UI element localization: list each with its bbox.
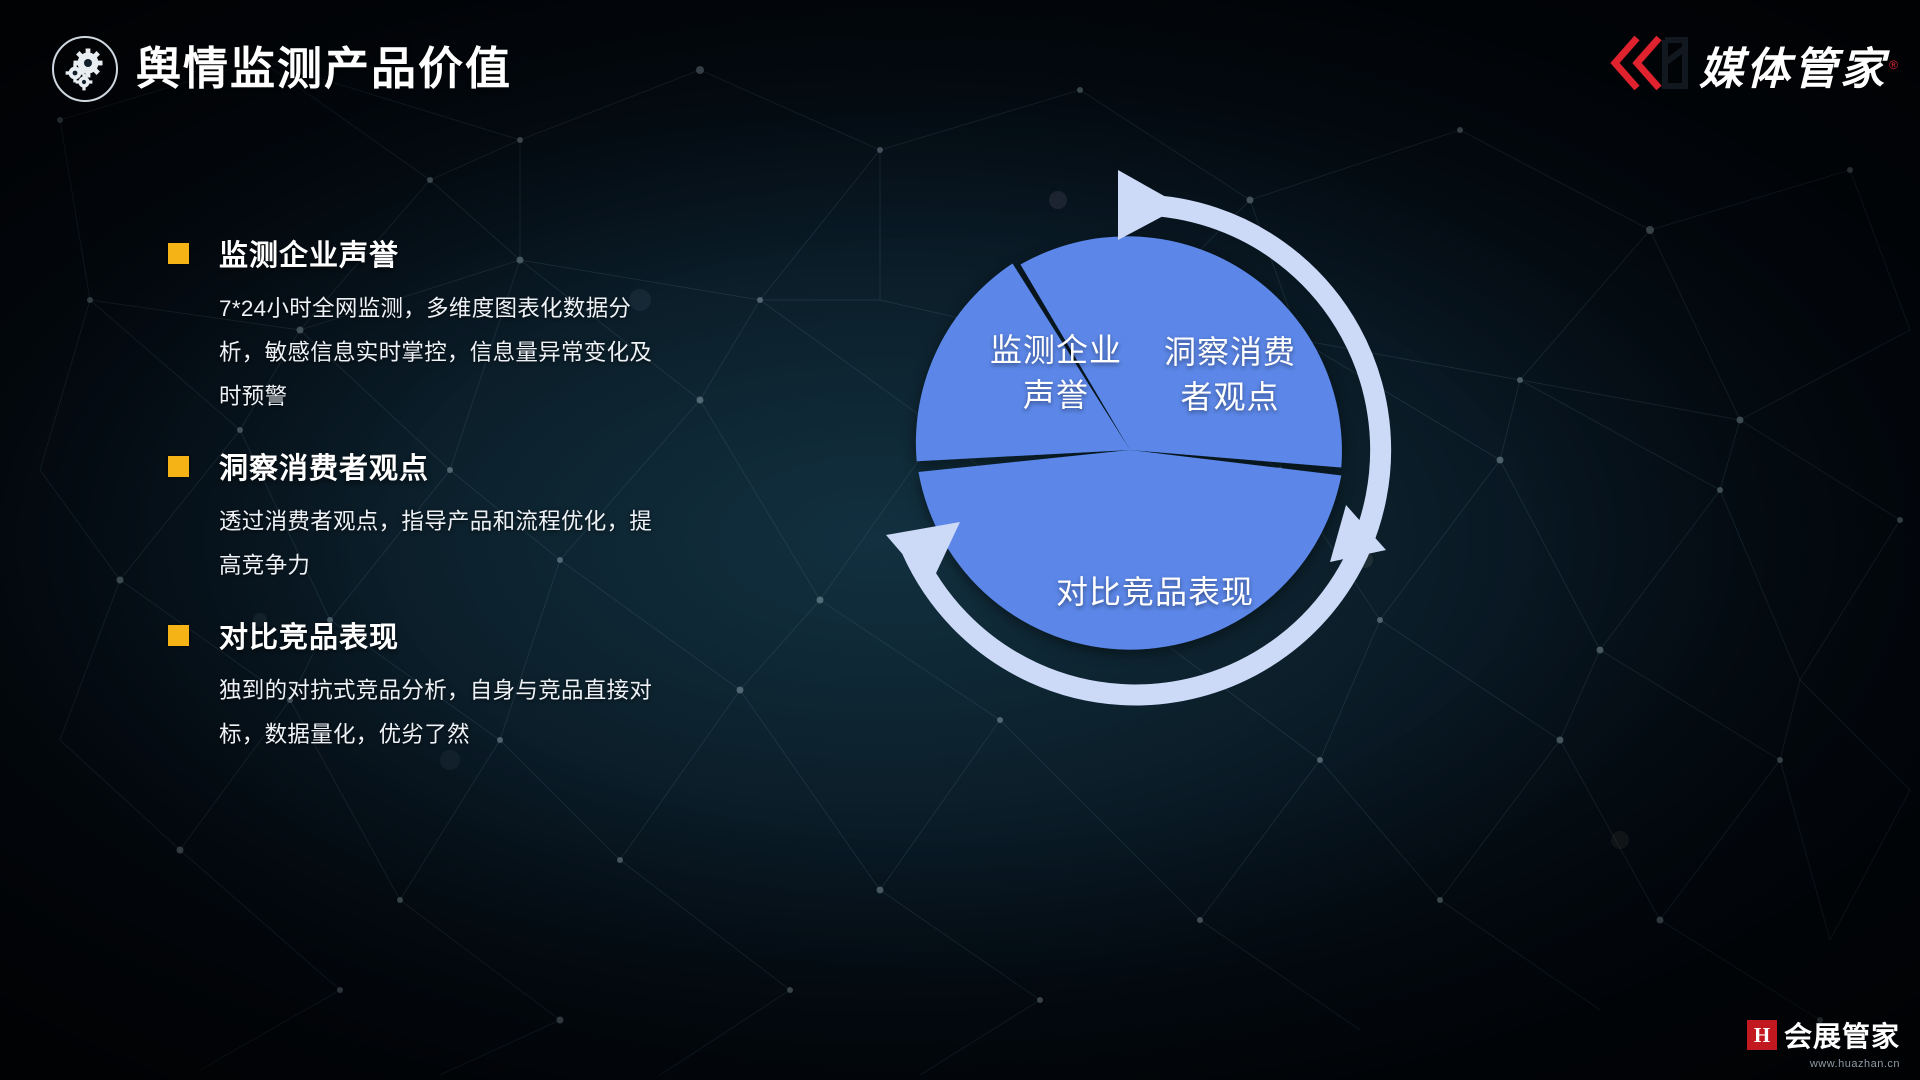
bullet-heading: 监测企业声誉 [168, 232, 728, 274]
square-bullet-icon [168, 243, 189, 264]
bullet-body: 7*24小时全网监测，多维度图表化数据分析，敏感信息实时掌控，信息量异常变化及时… [219, 287, 664, 419]
bullet-title: 监测企业声誉 [219, 232, 399, 274]
list-item: 对比竞品表现 独到的对抗式竞品分析，自身与竞品直接对标，数据量化，优劣了然 [168, 614, 728, 757]
huazhan-badge-icon: H [1747, 1020, 1777, 1050]
value-points-list: 监测企业声誉 7*24小时全网监测，多维度图表化数据分析，敏感信息实时掌控，信息… [168, 232, 728, 783]
brand-name: 媒体管家 [1699, 33, 1887, 97]
bullet-heading: 洞察消费者观点 [168, 445, 728, 487]
registered-mark: ® [1889, 58, 1898, 72]
bullet-title: 对比竞品表现 [219, 614, 399, 656]
list-item: 洞察消费者观点 透过消费者观点，指导产品和流程优化，提高竞争力 [168, 445, 728, 588]
gears-icon [52, 36, 118, 102]
double-chevron-logo-icon [1607, 32, 1693, 99]
bullet-heading: 对比竞品表现 [168, 614, 728, 656]
segment-group [916, 236, 1342, 649]
bullet-body: 独到的对抗式竞品分析，自身与竞品直接对标，数据量化，优劣了然 [219, 669, 664, 757]
bullet-title: 洞察消费者观点 [219, 445, 429, 487]
footer-url: www.huazhan.cn [1747, 1058, 1900, 1070]
bullet-body: 透过消费者观点，指导产品和流程优化，提高竞争力 [219, 500, 664, 588]
cycle-diagram: 监测企业声誉 洞察消费者观点 对比竞品表现 [830, 150, 1430, 750]
slide-canvas: 舆情监测产品价值 媒体管家 ® [0, 0, 1920, 1080]
cycle-diagram-graphic [830, 150, 1430, 750]
slide-header: 舆情监测产品价值 媒体管家 ® [0, 0, 1920, 140]
footer-logo: H 会展管家 www.huazhan.cn [1747, 1015, 1900, 1070]
footer-brand-name: 会展管家 [1784, 1015, 1900, 1055]
square-bullet-icon [168, 625, 189, 646]
segment-compare[interactable] [919, 450, 1342, 650]
square-bullet-icon [168, 456, 189, 477]
page-title: 舆情监测产品价值 [136, 36, 512, 102]
brand-logo: 媒体管家 ® [1607, 22, 1898, 108]
list-item: 监测企业声誉 7*24小时全网监测，多维度图表化数据分析，敏感信息实时掌控，信息… [168, 232, 728, 419]
